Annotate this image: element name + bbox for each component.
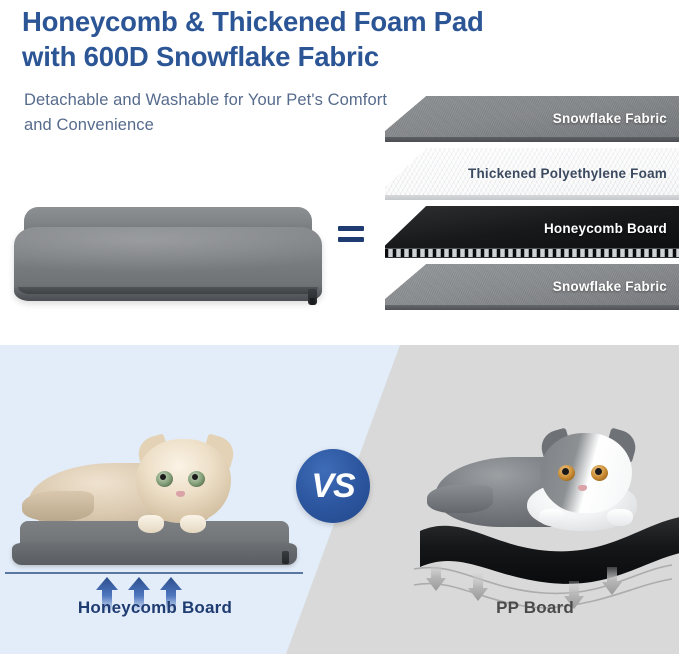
product-pad-image [8, 205, 328, 317]
pad-seam [18, 287, 318, 294]
layer-edge [385, 137, 679, 142]
cat-paw-right [607, 509, 633, 526]
equals-icon [338, 226, 364, 248]
layer-edge [385, 305, 679, 310]
product-infographic: Honeycomb & Thickened Foam Pad with 600D… [0, 0, 679, 654]
downward-force-arrows [416, 563, 666, 597]
cat-nose [578, 485, 587, 491]
layer-label: Thickened Polyethylene Foam [468, 166, 667, 181]
layer-honeycomb-board: Honeycomb Board [385, 206, 679, 258]
zipper-icon [282, 551, 289, 564]
label-pp-board: PP Board [390, 598, 679, 618]
layer-polyethylene-foam: Thickened Polyethylene Foam [385, 148, 679, 200]
page-subtitle: Detachable and Washable for Your Pet's C… [24, 88, 404, 138]
layer-label: Snowflake Fabric [553, 111, 667, 126]
cat-eye-right [188, 471, 205, 487]
cat-head [540, 433, 632, 513]
cat-paw-left [138, 515, 164, 533]
cat-paw-left [539, 509, 565, 526]
cat-eye-left [156, 471, 173, 487]
page-title-line-1: Honeycomb & Thickened Foam Pad [22, 6, 484, 37]
page-title: Honeycomb & Thickened Foam Pad with 600D… [22, 4, 622, 74]
mat-side [12, 543, 297, 565]
arrow-down-icon [426, 563, 446, 591]
layer-edge [385, 195, 679, 200]
vs-label: VS [311, 469, 354, 503]
layer-snowflake-fabric-top: Snowflake Fabric [385, 96, 679, 142]
layer-label: Honeycomb Board [544, 221, 667, 236]
cat-nose [176, 491, 185, 497]
cat-tail [22, 491, 94, 521]
construction-section: Honeycomb & Thickened Foam Pad with 600D… [0, 0, 679, 336]
cat-eye-right [591, 465, 608, 481]
cat-paw-right [180, 515, 206, 533]
layer-snowflake-fabric-bottom: Snowflake Fabric [385, 264, 679, 310]
cat-image-left [28, 435, 258, 535]
honeycomb-cells-pattern [385, 248, 679, 258]
layer-stack-diagram: Snowflake Fabric Thickened Polyethylene … [385, 96, 679, 310]
arrow-down-icon [602, 567, 622, 595]
layer-label: Snowflake Fabric [553, 279, 667, 294]
page-title-line-2: with 600D Snowflake Fabric [22, 41, 379, 72]
arrow-down-icon [468, 573, 488, 601]
zipper-icon [308, 289, 317, 305]
cat-head [136, 439, 231, 523]
cat-eye-left [558, 465, 575, 481]
cat-tail [427, 485, 493, 513]
vs-badge: VS [296, 449, 370, 523]
label-honeycomb-board: Honeycomb Board [0, 598, 310, 618]
support-reference-line-left [5, 572, 303, 574]
